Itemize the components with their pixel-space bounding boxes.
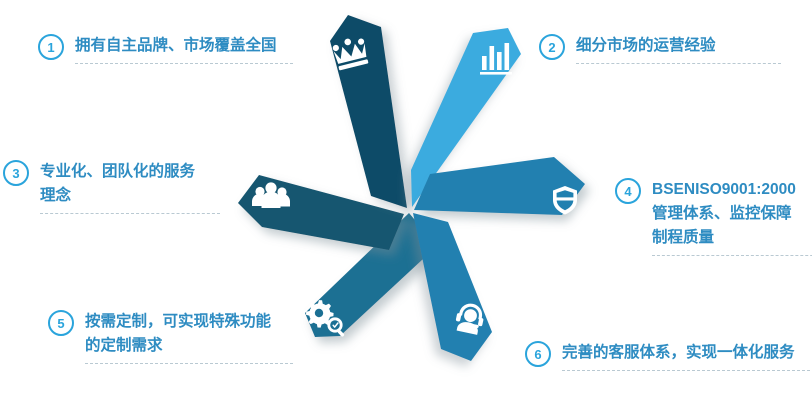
- item-text-1: 拥有自主品牌、市场覆盖全国: [75, 34, 293, 64]
- arrow-1: [330, 15, 407, 208]
- dashed-underline-1: [75, 63, 293, 64]
- item-text-3: 专业化、团队化的服务 理念: [40, 160, 220, 214]
- number-badge-5: 5: [48, 310, 74, 336]
- item-line: 专业化、团队化的服务: [40, 160, 220, 184]
- number-badge-6: 6: [525, 341, 551, 367]
- infographic-canvas: 1 拥有自主品牌、市场覆盖全国 2 细分市场的运营经验 3 专业化、团队化的服务…: [0, 0, 812, 406]
- item-lines-5: 按需定制，可实现特殊功能 的定制需求: [85, 310, 293, 358]
- item-text-5: 按需定制，可实现特殊功能 的定制需求: [85, 310, 293, 364]
- item-lines-4: BSENISO9001:2000 管理体系、监控保障 制程质量: [652, 178, 812, 250]
- dashed-underline-6: [562, 370, 812, 371]
- item-lines-1: 拥有自主品牌、市场覆盖全国: [75, 34, 293, 58]
- list-item-4[interactable]: 4 BSENISO9001:2000 管理体系、监控保障 制程质量: [615, 178, 812, 256]
- item-text-4: BSENISO9001:2000 管理体系、监控保障 制程质量: [652, 178, 812, 256]
- item-line: 细分市场的运营经验: [576, 34, 781, 58]
- number-badge-2: 2: [539, 34, 565, 60]
- item-lines-6: 完善的客服体系，实现一体化服务: [562, 341, 812, 365]
- item-line: 制程质量: [652, 226, 812, 250]
- item-lines-3: 专业化、团队化的服务 理念: [40, 160, 220, 208]
- item-line: BSENISO9001:2000: [652, 178, 812, 202]
- list-item-5[interactable]: 5 按需定制，可实现特殊功能 的定制需求: [48, 310, 293, 364]
- list-item-1[interactable]: 1 拥有自主品牌、市场覆盖全国: [38, 34, 293, 64]
- item-line: 理念: [40, 184, 220, 208]
- item-line: 完善的客服体系，实现一体化服务: [562, 341, 812, 365]
- dashed-underline-3: [40, 213, 220, 214]
- item-lines-2: 细分市场的运营经验: [576, 34, 781, 58]
- list-item-6[interactable]: 6 完善的客服体系，实现一体化服务: [525, 341, 812, 371]
- item-line: 管理体系、监控保障: [652, 202, 812, 226]
- item-line: 拥有自主品牌、市场覆盖全国: [75, 34, 293, 58]
- arrow-6: [413, 213, 492, 361]
- dashed-underline-4: [652, 255, 812, 256]
- item-line: 的定制需求: [85, 334, 293, 358]
- list-item-3[interactable]: 3 专业化、团队化的服务 理念: [3, 160, 220, 214]
- number-badge-4: 4: [615, 178, 641, 204]
- item-line: 按需定制，可实现特殊功能: [85, 310, 293, 334]
- dashed-underline-2: [576, 63, 781, 64]
- number-badge-1: 1: [38, 34, 64, 60]
- item-text-2: 细分市场的运营经验: [576, 34, 781, 64]
- number-badge-3: 3: [3, 160, 29, 186]
- dashed-underline-5: [85, 363, 293, 364]
- item-text-6: 完善的客服体系，实现一体化服务: [562, 341, 812, 371]
- list-item-2[interactable]: 2 细分市场的运营经验: [539, 34, 781, 64]
